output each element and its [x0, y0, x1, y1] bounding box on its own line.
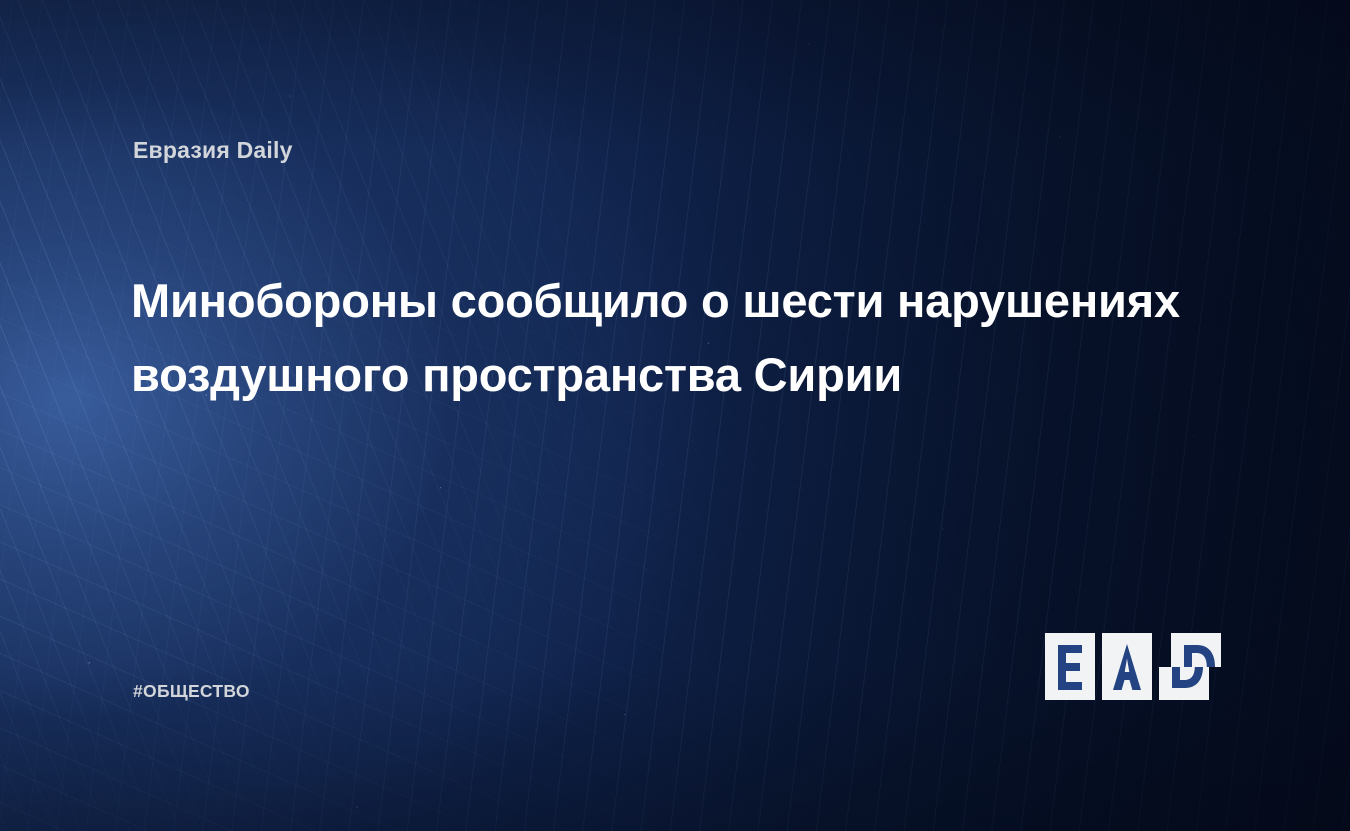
logo-tile-d-top-half	[1171, 633, 1221, 667]
logo-tile-d-split	[1159, 633, 1221, 712]
site-name[interactable]: Евразия Daily	[133, 137, 293, 164]
card-content: Евразия Daily Минобороны сообщило о шест…	[0, 0, 1350, 831]
ead-logo[interactable]	[1045, 633, 1221, 712]
logo-tile-a	[1102, 633, 1152, 700]
letter-e-icon	[1045, 633, 1095, 700]
category-tag[interactable]: #ОБЩЕСТВО	[133, 681, 250, 702]
article-headline[interactable]: Минобороны сообщило о шести нарушениях в…	[131, 264, 1206, 412]
social-share-card: Евразия Daily Минобороны сообщило о шест…	[0, 0, 1350, 831]
headline-text: Минобороны сообщило о шести нарушениях в…	[131, 274, 1180, 401]
letter-d-icon-top	[1171, 633, 1221, 667]
letter-a-icon	[1102, 633, 1152, 700]
letter-d-icon-bottom	[1159, 667, 1209, 700]
logo-tile-d-bottom-half	[1159, 667, 1209, 700]
logo-tile-e	[1045, 633, 1095, 700]
